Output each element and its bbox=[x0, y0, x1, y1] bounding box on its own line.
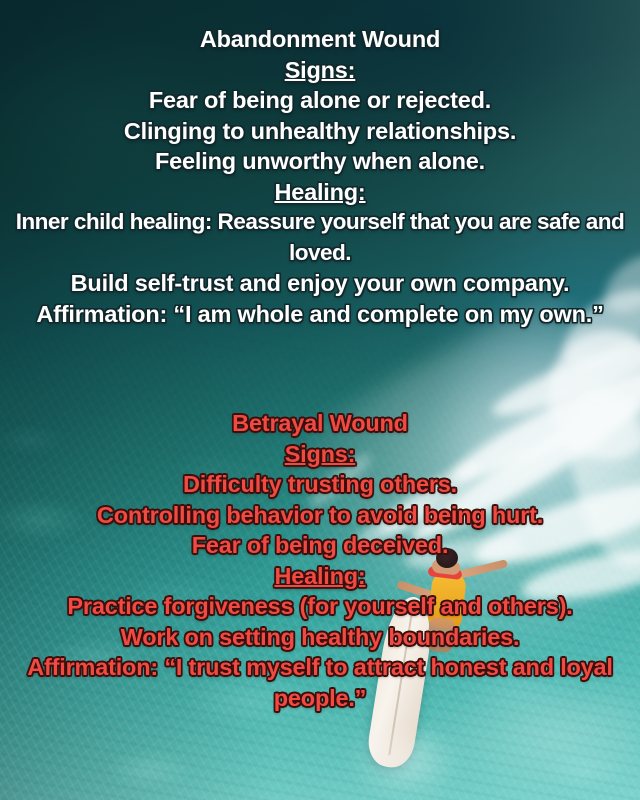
betrayal-sign-2: Controlling behavior to avoid being hurt… bbox=[0, 500, 640, 531]
abandonment-wound-block: Abandonment Wound Signs: Fear of being a… bbox=[0, 24, 640, 329]
abandonment-healing-2: Build self-trust and enjoy your own comp… bbox=[0, 268, 640, 299]
betrayal-wound-block: Betrayal Wound Signs: Difficulty trustin… bbox=[0, 408, 640, 713]
poster-image: Abandonment Wound Signs: Fear of being a… bbox=[0, 0, 640, 800]
betrayal-healing-heading: Healing: bbox=[0, 561, 640, 592]
text-overlay: Abandonment Wound Signs: Fear of being a… bbox=[0, 0, 640, 800]
betrayal-affirmation: Affirmation: “I trust myself to attract … bbox=[0, 652, 640, 713]
betrayal-signs-heading: Signs: bbox=[0, 439, 640, 470]
betrayal-healing-2: Work on setting healthy boundaries. bbox=[0, 622, 640, 653]
betrayal-title: Betrayal Wound bbox=[0, 408, 640, 439]
abandonment-sign-1: Fear of being alone or rejected. bbox=[0, 85, 640, 116]
betrayal-sign-1: Difficulty trusting others. bbox=[0, 469, 640, 500]
abandonment-title: Abandonment Wound bbox=[0, 24, 640, 55]
abandonment-affirmation: Affirmation: “I am whole and complete on… bbox=[0, 299, 640, 330]
betrayal-healing-1: Practice forgiveness (for yourself and o… bbox=[0, 591, 640, 622]
betrayal-sign-3: Fear of being deceived. bbox=[0, 530, 640, 561]
abandonment-healing-heading: Healing: bbox=[0, 177, 640, 208]
abandonment-sign-3: Feeling unworthy when alone. bbox=[0, 146, 640, 177]
abandonment-healing-1: Inner child healing: Reassure yourself t… bbox=[0, 207, 640, 268]
abandonment-signs-heading: Signs: bbox=[0, 55, 640, 86]
abandonment-sign-2: Clinging to unhealthy relationships. bbox=[0, 116, 640, 147]
